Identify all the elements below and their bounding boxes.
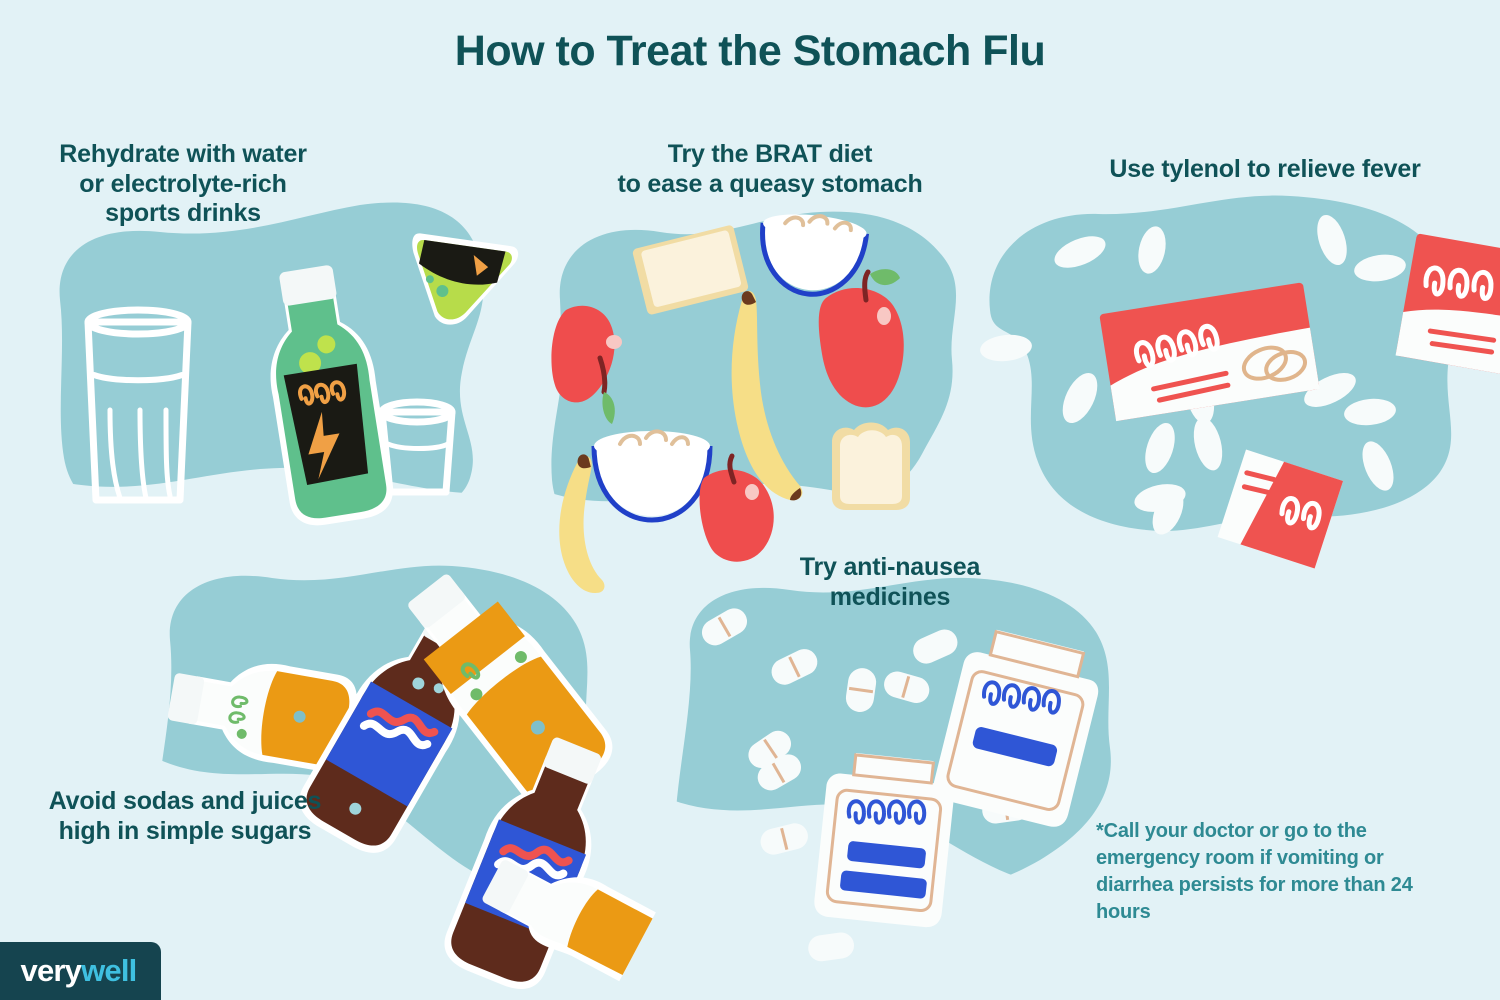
logo-wordmark: verywell (11, 953, 137, 989)
toast-icon (832, 423, 910, 511)
footnote-call-doctor: *Call your doctor or go to the emergency… (1096, 818, 1456, 926)
caption-tylenol: Use tylenol to relieve fever (1040, 155, 1490, 185)
panel-brat-art (540, 210, 960, 595)
caption-brat-diet: Try the BRAT diet to ease a queasy stoma… (560, 140, 980, 199)
logo-text-well: well (81, 953, 136, 988)
logo-text-very: very (21, 953, 82, 988)
page-title: How to Treat the Stomach Flu (0, 26, 1500, 77)
panel-avoid-art (150, 555, 656, 998)
panel-hydrate-art (40, 202, 519, 560)
panel-tylenol-art (979, 196, 1500, 569)
caption-anti-nausea: Try anti-nausea medicines (740, 553, 1040, 612)
caption-avoid-sodas: Avoid sodas and juices high in simple su… (10, 787, 360, 846)
infographic-canvas: How to Treat the Stomach Flu Rehydrate w… (0, 0, 1500, 1000)
verywell-logo[interactable]: verywell (0, 942, 161, 1000)
caption-rehydrate: Rehydrate with water or electrolyte-rich… (8, 140, 358, 229)
panel-nausea-art (670, 578, 1112, 963)
